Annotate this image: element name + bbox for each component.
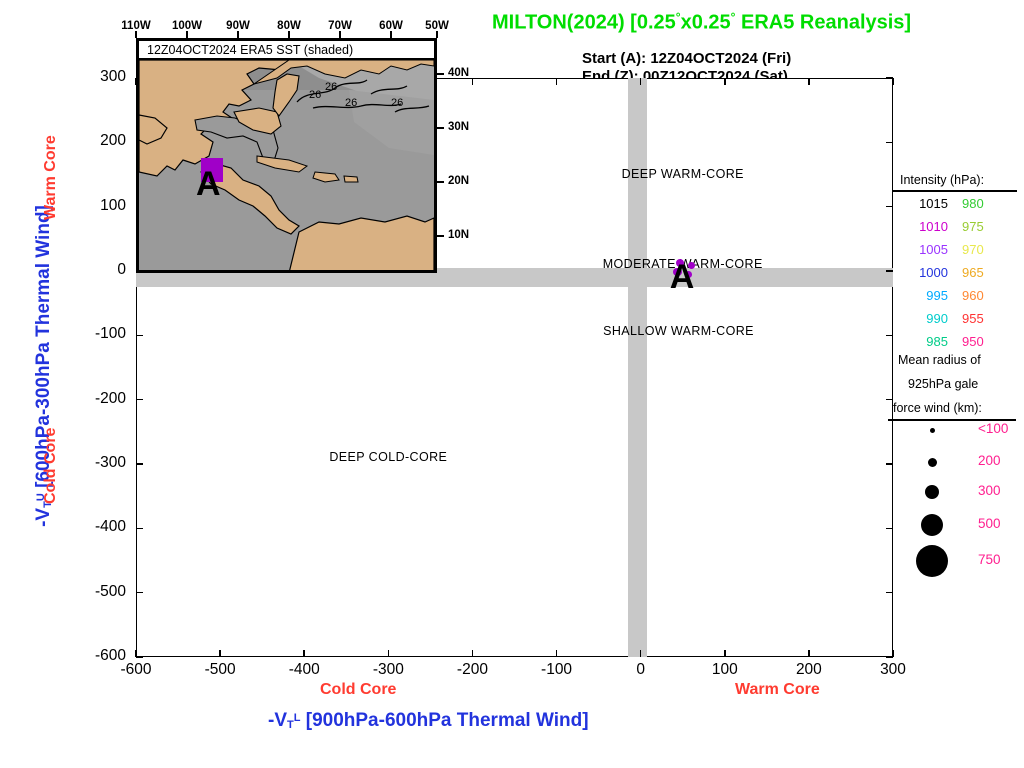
inset-map-lat-label: 30N xyxy=(448,121,469,133)
radius-legend-dot xyxy=(928,458,937,467)
y-axis-tick-label: -100 xyxy=(64,325,126,343)
x-axis-tick xyxy=(808,78,810,85)
radius-legend-label: 500 xyxy=(978,516,1024,531)
intensity-legend-title: Intensity (hPa): xyxy=(900,173,984,187)
title-mid: x0.25 xyxy=(681,12,731,34)
inset-map[interactable]: 12Z04OCT2024 ERA5 SST (shaded) 26 26 xyxy=(136,38,437,273)
intensity-legend-value-left: 1010 xyxy=(900,219,948,242)
quadrant-label: SHALLOW WARM-CORE xyxy=(599,324,759,338)
y-axis-tick-label: -400 xyxy=(64,518,126,536)
x-axis-tick xyxy=(219,650,221,657)
radius-legend-dot xyxy=(916,545,948,577)
inset-map-lat-label: 40N xyxy=(448,67,469,79)
intensity-legend-value-right: 960 xyxy=(962,288,1006,311)
y-axis-tick-label: 200 xyxy=(64,132,126,150)
x-axis-tick xyxy=(892,78,894,85)
radius-legend-label: <100 xyxy=(978,421,1024,436)
y-axis-tick-label: -600 xyxy=(64,647,126,665)
inset-map-lon-tick xyxy=(390,31,392,38)
x-axis-tick-label: -300 xyxy=(348,661,428,679)
y-axis-tick-label: 100 xyxy=(64,197,126,215)
y-axis-tick xyxy=(886,463,893,465)
x-axis-tick-label: 100 xyxy=(685,661,765,679)
intensity-legend-value-left: 1000 xyxy=(900,265,948,288)
y-axis-cold-core-label: Cold Core xyxy=(42,434,60,504)
xaxis-sub-T: T xyxy=(287,719,294,731)
intensity-legend-value-right: 975 xyxy=(962,219,1006,242)
svg-text:26: 26 xyxy=(345,97,357,109)
radius-legend-title-line2: 925hPa gale xyxy=(908,377,978,391)
radius-legend-label: 750 xyxy=(978,552,1024,567)
radius-legend-dot xyxy=(925,485,939,499)
y-axis-tick xyxy=(136,399,143,401)
inset-map-storm-marker: A xyxy=(196,167,221,201)
y-axis-tick xyxy=(136,463,143,465)
y-axis-tick-label: 0 xyxy=(64,261,126,279)
inset-map-lat-label: 20N xyxy=(448,175,469,187)
x-axis-tick xyxy=(472,78,474,85)
intensity-legend-value-left: 1015 xyxy=(900,196,948,219)
radius-legend-dot xyxy=(921,514,943,536)
intensity-legend-value-right: 970 xyxy=(962,242,1006,265)
x-axis-tick-label: -100 xyxy=(517,661,597,679)
x-axis-tick xyxy=(808,650,810,657)
y-axis-tick-label: -200 xyxy=(64,390,126,408)
y-axis-tick-label: 300 xyxy=(64,68,126,86)
y-axis-tick xyxy=(886,528,893,530)
inset-map-lon-tick xyxy=(339,31,341,38)
inset-map-lat-tick xyxy=(437,127,444,129)
y-axis-warm-core-label: Warm Core xyxy=(42,150,60,220)
y-axis-tick xyxy=(886,592,893,594)
y-axis-tick xyxy=(886,142,893,144)
inset-map-canvas: 26 26 26 26 xyxy=(139,60,434,273)
intensity-legend-value-right: 950 xyxy=(962,334,1006,357)
y-axis-tick xyxy=(136,656,143,658)
intensity-legend-value-right: 980 xyxy=(962,196,1006,219)
inset-map-lat-label: 10N xyxy=(448,229,469,241)
intensity-legend-value-left: 995 xyxy=(900,288,948,311)
x-axis-tick-label: -400 xyxy=(264,661,344,679)
x-axis-tick xyxy=(303,650,305,657)
y-axis-tick xyxy=(886,656,893,658)
y-axis-tick xyxy=(136,528,143,530)
svg-text:26: 26 xyxy=(391,97,403,109)
title-name: MILTON(2024) [0.25 xyxy=(492,12,676,34)
intensity-legend-value-right: 965 xyxy=(962,265,1006,288)
radius-legend-label: 200 xyxy=(978,453,1024,468)
y-axis-tick xyxy=(136,592,143,594)
inset-map-lon-tick xyxy=(288,31,290,38)
inset-map-lat-tick xyxy=(437,73,444,75)
x-axis-tick xyxy=(724,78,726,85)
track-start-marker: A xyxy=(670,260,695,294)
xaxis-sup-L: L xyxy=(294,712,301,724)
x-axis-cold-core-label: Cold Core xyxy=(320,681,396,699)
y-axis-tick xyxy=(886,335,893,337)
quadrant-label: DEEP COLD-CORE xyxy=(308,450,468,464)
y-axis-tick xyxy=(886,77,893,79)
inset-map-header: 12Z04OCT2024 ERA5 SST (shaded) xyxy=(139,41,434,60)
y-axis-tick xyxy=(886,206,893,208)
inset-map-lon-tick xyxy=(186,31,188,38)
svg-text:26: 26 xyxy=(309,89,321,101)
x-axis-tick xyxy=(472,650,474,657)
x-axis-tick xyxy=(640,650,642,657)
svg-text:26: 26 xyxy=(325,81,337,93)
y-axis-tick-label: -300 xyxy=(64,454,126,472)
inset-map-lon-tick xyxy=(135,31,137,38)
intensity-legend-value-left: 985 xyxy=(900,334,948,357)
intensity-legend-rule xyxy=(893,190,1017,192)
x-axis-tick-label: -500 xyxy=(180,661,260,679)
zero-reference-band-vertical xyxy=(628,78,647,657)
inset-map-lon-tick xyxy=(436,31,438,38)
y-axis-tick-label: -500 xyxy=(64,583,126,601)
intensity-legend-value-left: 990 xyxy=(900,311,948,334)
x-axis-warm-core-label: Warm Core xyxy=(735,681,820,699)
inset-map-lat-tick xyxy=(437,235,444,237)
intensity-legend-value-left: 1005 xyxy=(900,242,948,265)
page-title: MILTON(2024) [0.25°x0.25° ERA5 Reanalysi… xyxy=(492,10,911,35)
y-axis-tick xyxy=(886,270,893,272)
y-axis-tick xyxy=(886,399,893,401)
radius-legend-label: 300 xyxy=(978,483,1024,498)
title-tail: ERA5 Reanalysis] xyxy=(735,12,911,34)
x-axis-tick xyxy=(556,650,558,657)
x-axis-tick xyxy=(640,78,642,85)
radius-legend-dot xyxy=(930,428,935,433)
intensity-legend-value-right: 955 xyxy=(962,311,1006,334)
x-axis-tick-label: 0 xyxy=(601,661,681,679)
x-axis-title: -VTL [900hPa-600hPa Thermal Wind] xyxy=(268,710,589,732)
radius-legend-title-line3: force wind (km): xyxy=(893,401,982,415)
inset-map-lat-tick xyxy=(437,181,444,183)
x-axis-tick-label: 200 xyxy=(769,661,849,679)
x-axis-tick xyxy=(388,650,390,657)
x-axis-tick-label: -200 xyxy=(432,661,512,679)
x-axis-tick-label: 300 xyxy=(853,661,933,679)
y-axis-tick xyxy=(136,335,143,337)
quadrant-label: DEEP WARM-CORE xyxy=(603,167,763,181)
x-axis-tick xyxy=(724,650,726,657)
inset-map-lon-tick xyxy=(237,31,239,38)
start-time-label: Start (A): 12Z04OCT2024 (Fri) xyxy=(582,50,791,67)
x-axis-tick xyxy=(556,78,558,85)
